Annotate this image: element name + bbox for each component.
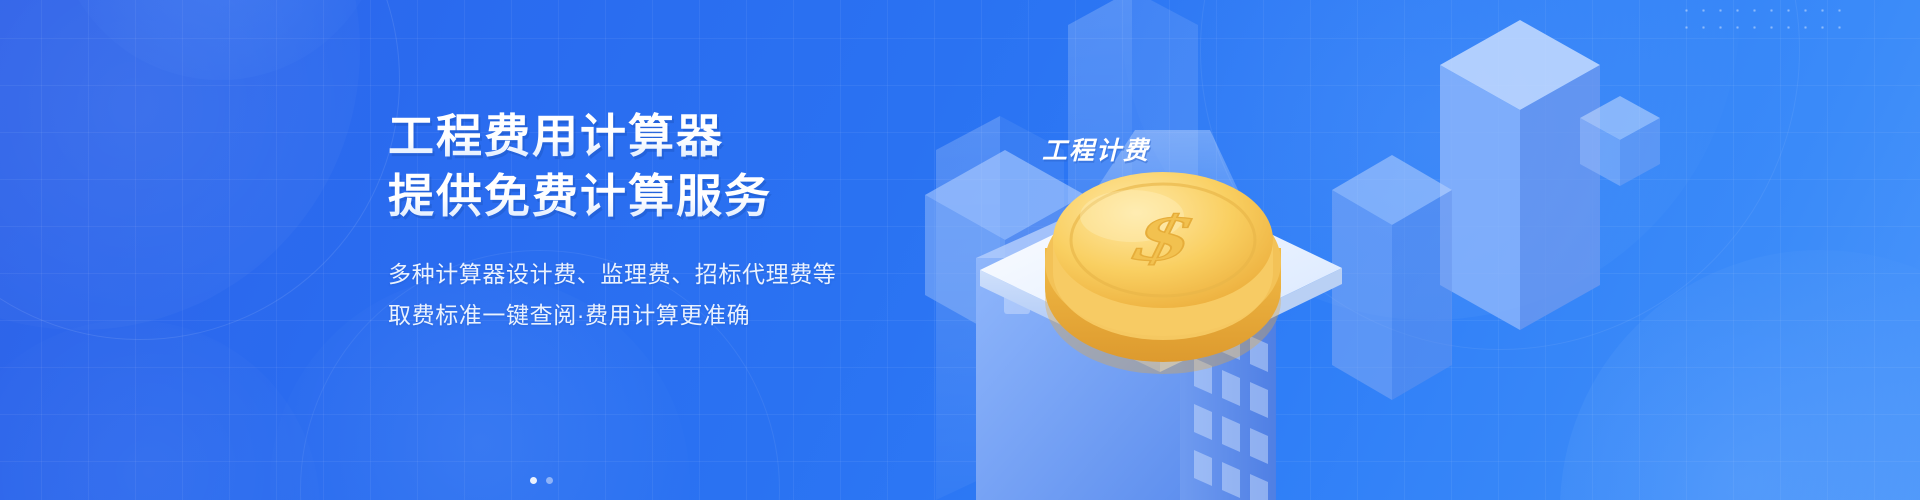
- banner-text-block: 工程费用计算器 提供免费计算服务 多种计算器设计费、监理费、招标代理费等 取费标…: [388, 108, 948, 336]
- illustration-badge-label: 工程计费: [1042, 131, 1150, 167]
- subtitle-line-2: 取费标准一键查阅·费用计算更准确: [388, 295, 948, 336]
- subtitle-block: 多种计算器设计费、监理费、招标代理费等 取费标准一键查阅·费用计算更准确: [388, 254, 948, 336]
- headline-line-1: 工程费用计算器: [388, 108, 948, 164]
- carousel-pager[interactable]: [530, 477, 553, 484]
- gold-coin-stack: $: [1045, 172, 1281, 374]
- hero-banner: 工程费用计算器 提供免费计算服务 多种计算器设计费、监理费、招标代理费等 取费标…: [0, 0, 1920, 500]
- isometric-bars-right: [1332, 20, 1600, 400]
- banner-illustration: $ 工程计费: [880, 0, 1920, 500]
- carousel-dot-1[interactable]: [530, 477, 537, 484]
- carousel-dot-2[interactable]: [546, 477, 553, 484]
- illustration-svg: $: [880, 0, 1920, 500]
- subtitle-line-1: 多种计算器设计费、监理费、招标代理费等: [388, 254, 948, 295]
- headline-line-2: 提供免费计算服务: [388, 168, 948, 224]
